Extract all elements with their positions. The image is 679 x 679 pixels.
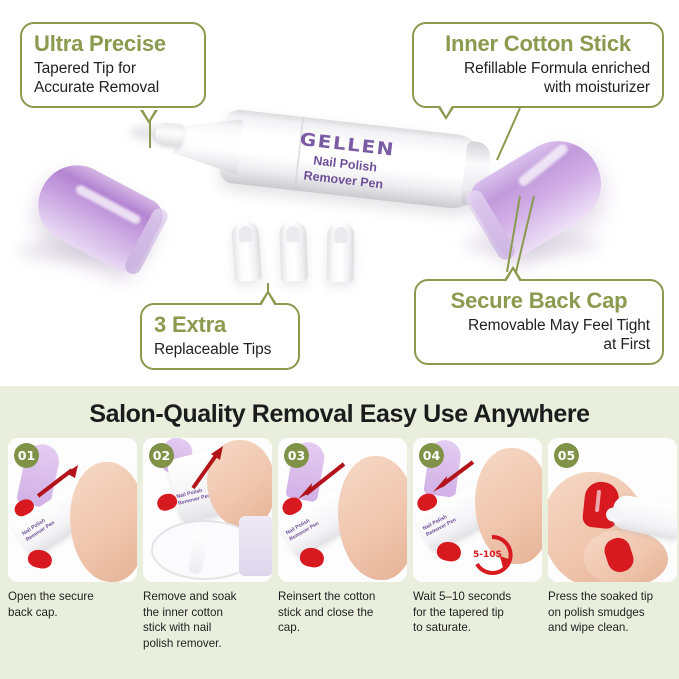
callout-pointer-ultra-precise-fill — [142, 108, 156, 120]
callout-title: 3 Extra — [154, 313, 286, 338]
step-caption: Open the secure back cap. — [8, 589, 137, 620]
pen-cone — [172, 112, 244, 175]
step-photo: Nail Polish Remover Pen 5-10S 04 — [413, 438, 542, 582]
step-photo: 05 — [548, 438, 677, 582]
replacement-tip-groove — [334, 227, 347, 243]
how-to-use-section: Salon-Quality Removal Easy Use Anywhere … — [0, 386, 679, 679]
photo-arrow — [187, 442, 229, 492]
step-photo: Nail Polish Remover Pen 03 — [278, 438, 407, 582]
replacement-tip — [326, 222, 354, 282]
callout-pointer-inner-cotton-stick-fill — [439, 104, 453, 116]
timer-badge-label: 5-10S — [473, 550, 502, 560]
step-number-badge: 02 — [149, 443, 174, 468]
step-photo: Nail Polish Remover Pen 02 — [143, 438, 272, 582]
step-caption: Remove and soak the inner cotton stick w… — [143, 589, 272, 651]
replacement-tip-groove — [238, 226, 252, 243]
callout-pointer-secure-back-cap-fill — [506, 270, 520, 282]
replacement-tip — [279, 221, 308, 282]
step-item: Nail Polish Remover Pen 03 Reinsert the … — [278, 438, 407, 651]
callout-ultra-precise: Ultra Precise Tapered Tip for Accurate R… — [20, 22, 206, 108]
step-photo: Nail Polish Remover Pen 01 — [8, 438, 137, 582]
callout-three-extra-tips: 3 Extra Replaceable Tips — [140, 303, 300, 370]
step-caption: Reinsert the cotton stick and close the … — [278, 589, 407, 636]
remover-pen-product: GELLEN Nail Polish Remover Pen — [143, 96, 521, 229]
step-item: Nail Polish Remover Pen 01 Open the secu… — [8, 438, 137, 651]
callout-pointer-three-extra-tips-fill — [261, 294, 275, 306]
step-number-badge: 01 — [14, 443, 39, 468]
step-number-badge: 04 — [419, 443, 444, 468]
replacement-tip-groove — [286, 226, 300, 242]
callout-title: Secure Back Cap — [428, 289, 650, 314]
callout-subtitle: Refillable Formula enriched with moistur… — [426, 59, 650, 97]
step-number-badge: 03 — [284, 443, 309, 468]
photo-side-pen — [239, 516, 272, 576]
step-item: Nail Polish Remover Pen 5-10S 04 Wait 5–… — [413, 438, 542, 651]
replacement-tip — [231, 220, 262, 282]
callout-title: Ultra Precise — [34, 32, 192, 57]
pen-cotton-tip — [154, 121, 184, 147]
callout-subtitle: Removable May Feel Tight at First — [428, 316, 650, 354]
callout-secure-back-cap: Secure Back Cap Removable May Feel Tight… — [414, 279, 664, 365]
callout-subtitle: Replaceable Tips — [154, 340, 286, 359]
step-number-badge: 05 — [554, 443, 579, 468]
how-to-title: Salon-Quality Removal Easy Use Anywhere — [0, 400, 679, 429]
callout-inner-cotton-stick: Inner Cotton Stick Refillable Formula en… — [412, 22, 664, 108]
steps-row: Nail Polish Remover Pen 01 Open the secu… — [8, 438, 671, 651]
callout-title: Inner Cotton Stick — [426, 32, 650, 57]
step-caption: Wait 5–10 seconds for the tapered tip to… — [413, 589, 542, 636]
step-caption: Press the soaked tip on polish smudges a… — [548, 589, 677, 636]
step-item: 05 Press the soaked tip on polish smudge… — [548, 438, 677, 651]
product-feature-section: Ultra Precise Tapered Tip for Accurate R… — [0, 0, 679, 386]
photo-arrow — [34, 462, 84, 500]
callout-subtitle: Tapered Tip for Accurate Removal — [34, 59, 192, 97]
step-item: Nail Polish Remover Pen 02 Remove and so… — [143, 438, 272, 651]
